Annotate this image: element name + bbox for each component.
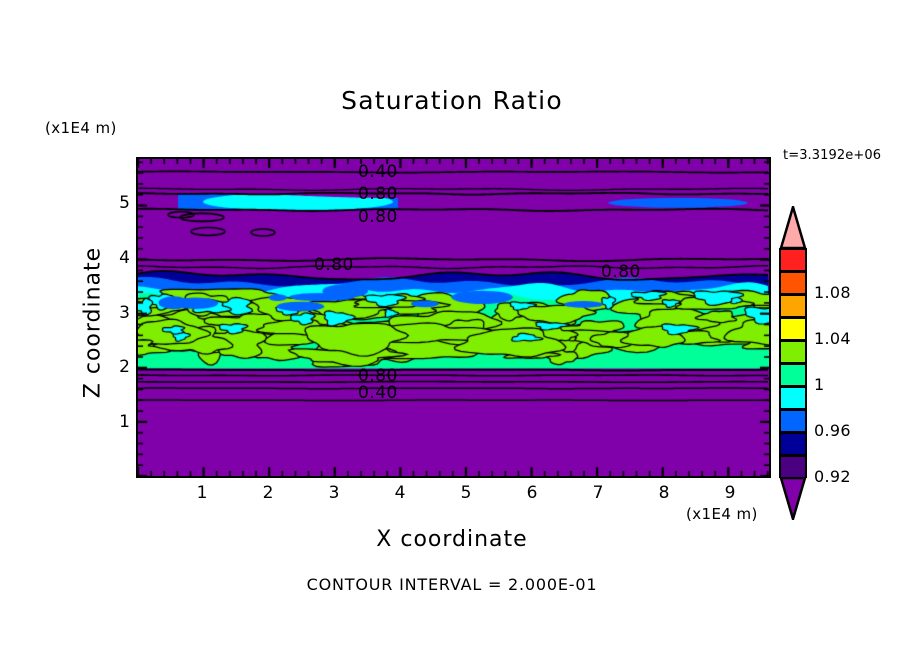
colorbar-top-arrow xyxy=(779,206,807,248)
contour-value-label: 0.40 xyxy=(358,383,398,403)
colorbar-tick-label: 1.08 xyxy=(814,283,851,302)
colorbar-band xyxy=(779,317,807,340)
contour-value-label: 0.80 xyxy=(601,262,641,282)
x-tick-label: 1 xyxy=(187,483,217,503)
x-axis-unit-label: (x1E4 m) xyxy=(686,505,758,523)
contour-plot-area xyxy=(136,157,771,478)
colorbar-tick-label: 0.92 xyxy=(814,467,851,486)
y-tick-label: 2 xyxy=(104,357,130,377)
time-annotation: t=3.3192e+06 xyxy=(783,148,881,163)
y-tick-label: 3 xyxy=(104,303,130,323)
x-tick-label: 5 xyxy=(451,483,481,503)
y-tick-label: 1 xyxy=(104,412,130,432)
colorbar-bottom-arrow xyxy=(779,478,807,520)
y-tick-label: 4 xyxy=(104,248,130,268)
x-tick-label: 2 xyxy=(253,483,283,503)
contour-interval-caption: CONTOUR INTERVAL = 2.000E-01 xyxy=(0,575,904,594)
contour-value-label: 0.40 xyxy=(358,162,398,182)
y-axis-title: Z coordinate xyxy=(81,213,106,433)
x-tick-label: 3 xyxy=(319,483,349,503)
x-tick-label: 8 xyxy=(649,483,679,503)
colorbar-band xyxy=(779,363,807,386)
y-tick-label: 5 xyxy=(104,193,130,213)
contour-field-canvas xyxy=(138,159,769,476)
colorbar-tick-label: 0.96 xyxy=(814,421,851,440)
page-title: Saturation Ratio xyxy=(0,86,904,115)
x-tick-label: 6 xyxy=(517,483,547,503)
colorbar-band xyxy=(779,248,807,271)
colorbar-tick-label: 1.04 xyxy=(814,329,851,348)
colorbar-band xyxy=(779,271,807,294)
colorbar xyxy=(779,206,807,520)
colorbar-band xyxy=(779,409,807,432)
colorbar-band xyxy=(779,340,807,363)
colorbar-band xyxy=(779,294,807,317)
contour-value-label: 0.80 xyxy=(314,255,354,275)
x-axis-title: X coordinate xyxy=(0,527,904,552)
colorbar-tick-label: 1 xyxy=(814,375,824,394)
y-axis-unit-label: (x1E4 m) xyxy=(45,119,117,137)
colorbar-band xyxy=(779,455,807,478)
colorbar-band xyxy=(779,386,807,409)
x-tick-label: 9 xyxy=(715,483,745,503)
x-tick-label: 7 xyxy=(583,483,613,503)
contour-value-label: 0.80 xyxy=(358,184,398,204)
x-tick-label: 4 xyxy=(385,483,415,503)
contour-value-label: 0.80 xyxy=(358,207,398,227)
colorbar-band xyxy=(779,432,807,455)
